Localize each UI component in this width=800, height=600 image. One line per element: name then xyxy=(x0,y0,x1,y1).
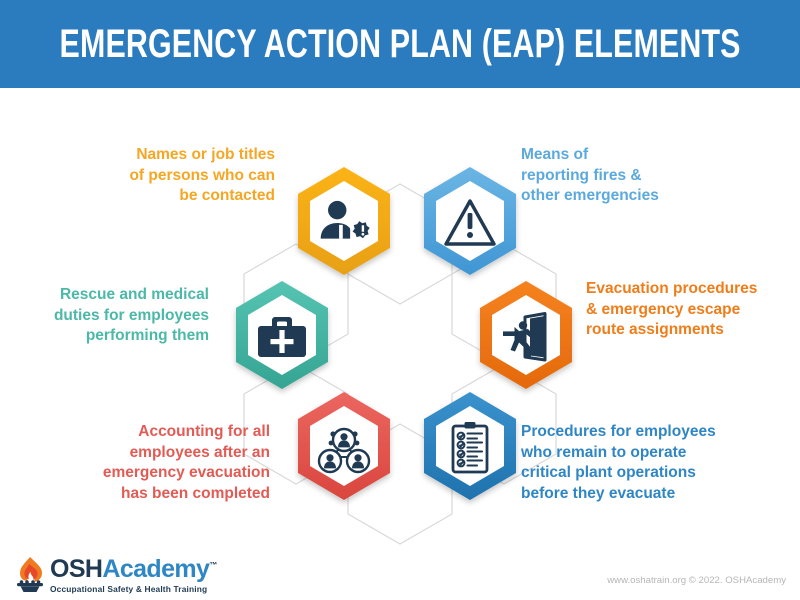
copyright-notice: www.oshatrain.org © 2022. OSHAcademy xyxy=(607,575,786,586)
caption-critical-operations: Procedures for employees who remain to o… xyxy=(521,422,761,504)
oshacademy-logo[interactable]: OSHAcademy™ Occupational Safety & Health… xyxy=(14,555,217,592)
trademark-symbol: ™ xyxy=(209,561,216,570)
caption-line: has been completed xyxy=(70,484,270,505)
caption-line: Names or job titles xyxy=(60,145,275,166)
caption-line: reporting fires & xyxy=(521,166,751,187)
hex-node-contacts[interactable] xyxy=(290,164,398,284)
torch-flame-icon xyxy=(14,556,46,592)
caption-line: who remain to operate xyxy=(521,443,761,464)
caption-line: route assignments xyxy=(586,320,791,341)
logo-text-block: OSHAcademy™ Occupational Safety & Health… xyxy=(50,557,217,594)
logo-wordmark: OSHAcademy™ xyxy=(50,557,217,582)
caption-line: emergency evacuation xyxy=(70,463,270,484)
caption-contacts: Names or job titles of persons who can b… xyxy=(60,145,275,207)
page-footer: OSHAcademy™ Occupational Safety & Health… xyxy=(0,538,800,600)
hex-node-evacuation[interactable] xyxy=(472,278,580,398)
caption-line: duties for employees xyxy=(14,306,209,327)
caption-rescue-medical: Rescue and medical duties for employees … xyxy=(14,285,209,347)
caption-line: of persons who can xyxy=(60,166,275,187)
caption-line: Means of xyxy=(521,145,751,166)
caption-line: Rescue and medical xyxy=(14,285,209,306)
caption-line: employees after an xyxy=(70,443,270,464)
hex-node-accounting[interactable] xyxy=(290,389,398,509)
logo-word-osh: OSH xyxy=(50,555,102,583)
logo-tagline: Occupational Safety & Health Training xyxy=(50,584,217,594)
caption-line: Evacuation procedures xyxy=(586,279,791,300)
caption-reporting: Means of reporting fires & other emergen… xyxy=(521,145,751,207)
logo-word-academy: Academy xyxy=(102,555,209,583)
caption-accounting: Accounting for all employees after an em… xyxy=(70,422,270,504)
caption-line: Accounting for all xyxy=(70,422,270,443)
caption-line: before they evacuate xyxy=(521,484,761,505)
hex-node-critical-operations[interactable] xyxy=(416,389,524,509)
caption-line: performing them xyxy=(14,326,209,347)
hex-node-rescue-medical[interactable] xyxy=(228,278,336,398)
caption-line: other emergencies xyxy=(521,186,751,207)
infographic-canvas: Names or job titles of persons who can b… xyxy=(0,88,800,600)
caption-line: be contacted xyxy=(60,186,275,207)
caption-line: critical plant operations xyxy=(521,463,761,484)
page-title: EMERGENCY ACTION PLAN (EAP) ELEMENTS xyxy=(59,22,740,67)
caption-evacuation: Evacuation procedures & emergency escape… xyxy=(586,279,791,341)
caption-line: & emergency escape xyxy=(586,300,791,321)
hex-node-reporting[interactable] xyxy=(416,164,524,284)
caption-line: Procedures for employees xyxy=(521,422,761,443)
page-header: EMERGENCY ACTION PLAN (EAP) ELEMENTS xyxy=(0,0,800,88)
